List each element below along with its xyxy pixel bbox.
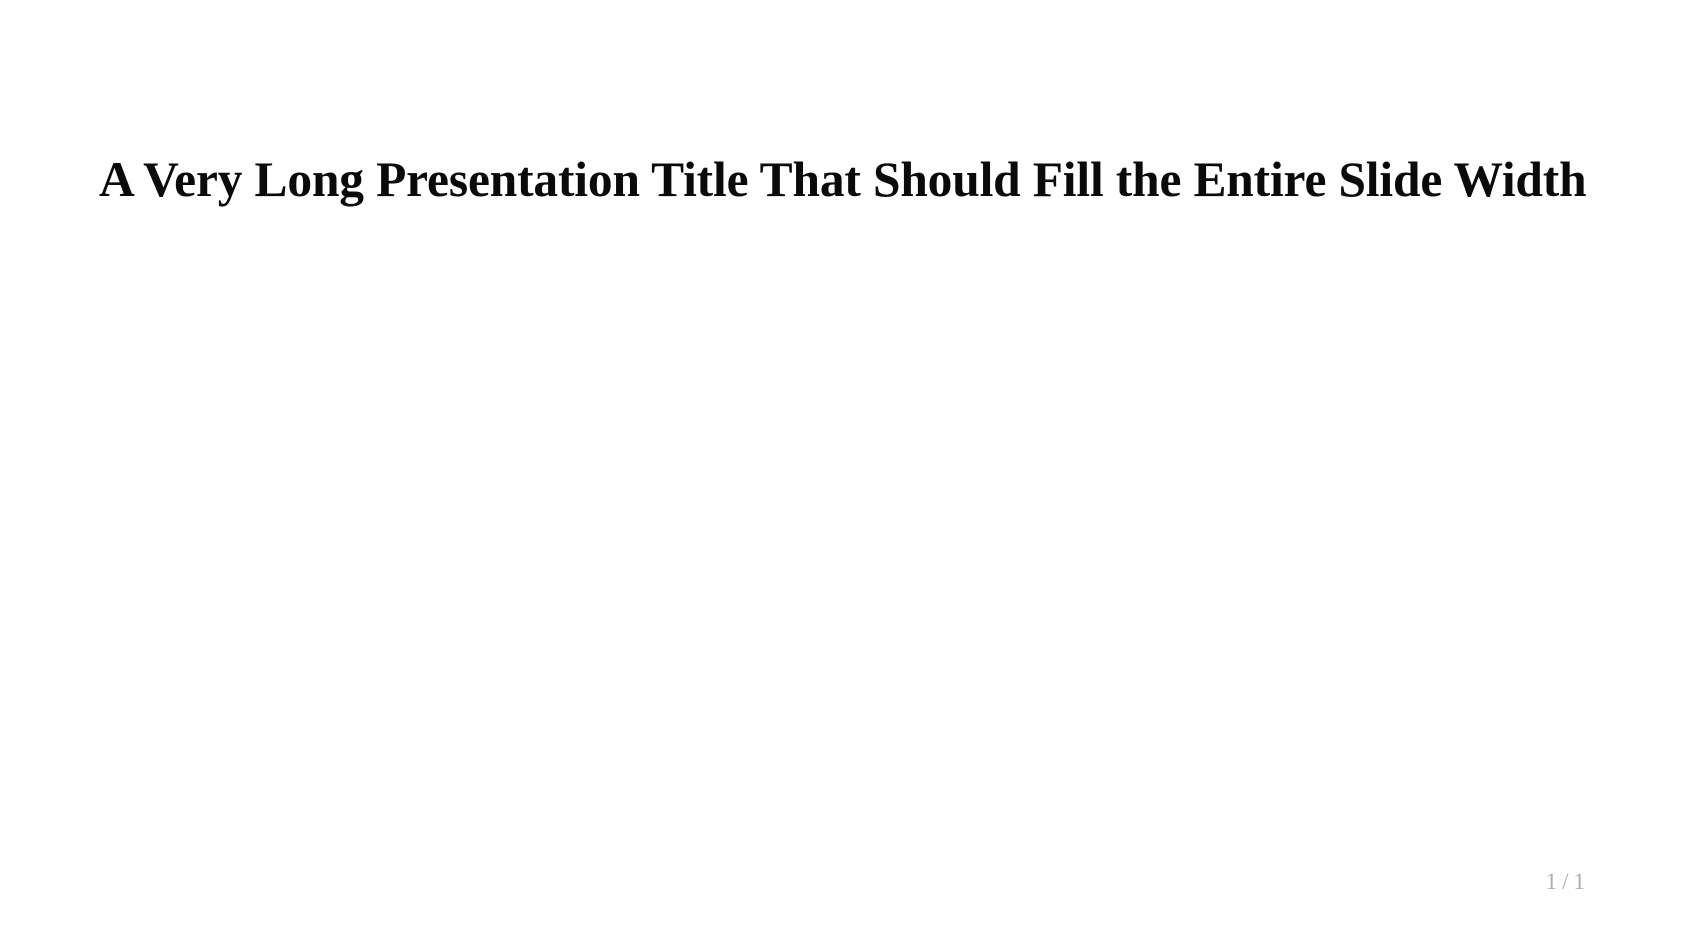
slide-title-placeholder[interactable]: A Very Long Presentation Title That Shou… xyxy=(99,144,1586,216)
slide-body-placeholder[interactable] xyxy=(99,240,1586,800)
page-indicator: 1 / 1 xyxy=(1546,866,1585,896)
page-indicator-current: 1 xyxy=(1546,870,1558,893)
page-indicator-total: 1 xyxy=(1574,870,1586,893)
page-title: A Very Long Presentation Title That Shou… xyxy=(99,153,1586,206)
slide-canvas: A Very Long Presentation Title That Shou… xyxy=(0,0,1684,947)
page-indicator-separator: / xyxy=(1557,870,1573,893)
